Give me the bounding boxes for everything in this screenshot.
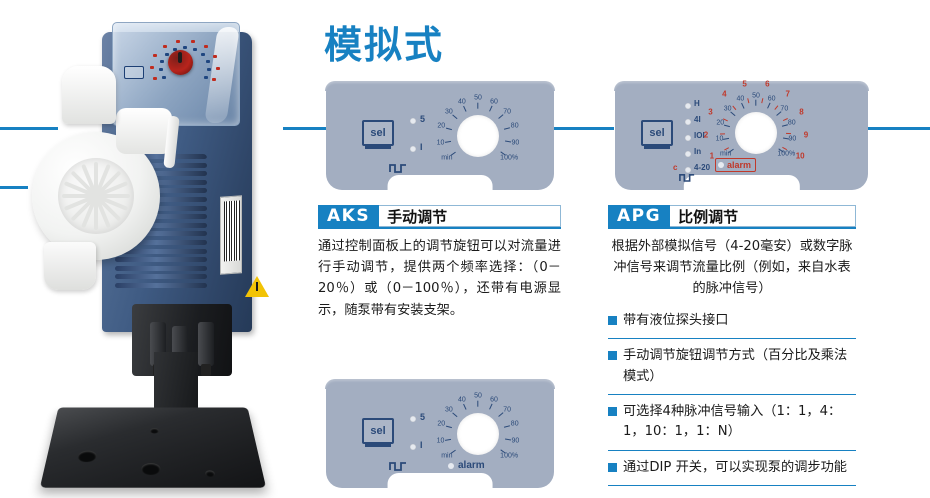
- dial-scale-label: 20: [716, 120, 724, 127]
- dial-scale-label: 30: [724, 106, 732, 113]
- dosing-pump-product-photo: [20, 4, 290, 496]
- feature-bullet-text: 带有液位探头接口: [623, 311, 729, 331]
- led-label-4to1: 4I: [694, 115, 701, 124]
- alarm-led: [718, 162, 724, 168]
- dial-scale-label: 40: [458, 98, 466, 105]
- connector-line-right-outer: [868, 127, 930, 130]
- dial-tick: [755, 100, 756, 106]
- dial-scale-label: 100%: [777, 151, 795, 158]
- aks-paragraph: 通过控制面板上的调节旋钮可以对流量进行手动调节，提供两个频率选择：（0－20％）…: [318, 236, 561, 322]
- connector-line-left-lower: [0, 186, 28, 189]
- led-indicator-5: [410, 416, 416, 422]
- alarm-indicator: alarm: [715, 158, 756, 172]
- dial-scale-label: 40: [736, 96, 744, 103]
- dial-scale-label: 100%: [500, 154, 518, 161]
- aks-badge-row: AKS 手动调节: [318, 205, 561, 227]
- panel-bottom-notch: [683, 175, 799, 191]
- pump-mounting-bracket: [40, 407, 266, 487]
- apg-description-column: APG 比例调节 根据外部模拟信号（4-20毫安）或数字脉冲信号来调节流量比例（…: [608, 205, 856, 486]
- dial-tick: [477, 103, 478, 109]
- aks-alarm-control-panel[interactable]: sel 5 I alarm min102030405060708090100%: [326, 380, 554, 488]
- feature-bullet-text: 可选择4种脉冲信号输入（1：1，4：1，10：1，1：N）: [623, 402, 856, 443]
- dial-scale-label-red: 6: [765, 80, 769, 89]
- aks-code-badge: AKS: [318, 205, 379, 227]
- dial-scale-label: min: [441, 452, 452, 459]
- dial-scale-label-red: 10: [796, 152, 805, 161]
- dial-scale-label-red: 4: [722, 90, 726, 99]
- led-label-1: I: [420, 142, 423, 152]
- dial-scale-label-red: 1: [710, 152, 714, 161]
- dial-tick: [504, 140, 510, 142]
- dial-scale-label: 90: [789, 136, 797, 143]
- alarm-label: alarm: [458, 460, 485, 471]
- dial-scale-label: 30: [445, 406, 453, 413]
- dial-scale-label: 90: [512, 437, 520, 444]
- led-label-5: 5: [420, 114, 425, 124]
- dial-scale-label: 60: [490, 396, 498, 403]
- panel-bottom-notch: [388, 473, 493, 489]
- led-label-in: In: [694, 147, 701, 156]
- bullet-square-icon: [608, 463, 617, 472]
- dial-scale-label: 60: [768, 96, 776, 103]
- dial-scale-label: 10: [437, 437, 445, 444]
- apg-feature-list: 带有液位探头接口手动调节旋钮调节方式（百分比及乘法模式）可选择4种脉冲信号输入（…: [608, 304, 856, 487]
- led-indicator-in: [685, 151, 691, 157]
- dial-scale-label: 50: [474, 95, 482, 102]
- dial-tick: [477, 401, 478, 407]
- feature-bullet-text: 手动调节旋钮调节方式（百分比及乘法模式）: [623, 346, 856, 387]
- dial-scale-label: 10: [716, 136, 724, 143]
- square-pulse-icon: [389, 460, 407, 471]
- feature-bullet: 通过DIP 开关，可以实现泵的调步功能: [608, 451, 856, 486]
- connector-line-left-panel: [283, 127, 327, 130]
- apg-heading: 比例调节: [670, 205, 856, 227]
- dial-scale-label: 30: [445, 108, 453, 115]
- connector-line-left-outer: [0, 127, 58, 130]
- aks-underline: [318, 227, 561, 229]
- alarm-label: alarm: [727, 160, 751, 170]
- connector-line-middle: [552, 127, 614, 130]
- dial-scale-label-red: 7: [785, 90, 789, 99]
- apg-code-badge: APG: [608, 205, 670, 227]
- barcode-icon: [224, 200, 240, 261]
- square-pulse-icon: [389, 162, 407, 173]
- dial-scale-label-red: 3: [708, 108, 712, 117]
- pump-top-cap: [62, 66, 116, 124]
- alarm-led: [448, 463, 454, 469]
- pump-head-neck: [116, 108, 172, 154]
- led-label-1: I: [420, 440, 423, 450]
- dial-scale-label-red: 8: [799, 108, 803, 117]
- adjust-dial-knob[interactable]: [457, 413, 499, 455]
- led-indicator-4to1: [685, 119, 691, 125]
- panel-surface: [326, 380, 554, 488]
- pulse-prefix-label: c: [673, 163, 677, 172]
- dial-scale-label: 80: [511, 123, 519, 130]
- dial-scale-label: 80: [788, 120, 796, 127]
- panel-surface: [326, 82, 554, 190]
- aks-control-panel[interactable]: sel 5 I min102030405060708090100%: [326, 82, 554, 190]
- aks-description-column: AKS 手动调节 通过控制面板上的调节旋钮可以对流量进行手动调节，提供两个频率选…: [318, 205, 561, 321]
- pump-serial-label: [220, 195, 242, 275]
- dial-scale-label: 70: [780, 106, 788, 113]
- feature-bullet: 手动调节旋钮调节方式（百分比及乘法模式）: [608, 339, 856, 395]
- square-pulse-icon: [679, 172, 695, 182]
- led-indicator-10to1: [685, 135, 691, 141]
- alarm-indicator: alarm: [448, 460, 485, 471]
- dial-scale-label: 40: [458, 396, 466, 403]
- led-indicator-1: [410, 444, 416, 450]
- dial-scale-label-red: 9: [804, 130, 808, 139]
- sel-button[interactable]: sel: [362, 120, 394, 146]
- dial-scale-label: min: [720, 151, 731, 158]
- dial-scale-label: min: [441, 154, 452, 161]
- led-indicator-1: [410, 146, 416, 152]
- pump-cable-connector-3: [198, 322, 214, 366]
- pump-bottom-cap: [44, 242, 96, 290]
- dial-scale-label: 50: [474, 393, 482, 400]
- adjust-dial-knob[interactable]: [457, 115, 499, 157]
- apg-paragraph: 根据外部模拟信号（4-20毫安）或数字脉冲信号来调节流量比例（例如，来自水表的脉…: [608, 236, 856, 300]
- feature-bullet: 可选择4种脉冲信号输入（1：1，4：1，10：1，1：N）: [608, 395, 856, 451]
- adjust-dial-knob[interactable]: [735, 112, 777, 154]
- aks-heading: 手动调节: [379, 205, 561, 227]
- dial-scale-label-red: 5: [742, 80, 746, 89]
- dial-scale-label: 50: [752, 93, 760, 100]
- led-indicator-5: [410, 118, 416, 124]
- sel-button[interactable]: sel: [362, 418, 394, 444]
- sel-button[interactable]: sel: [641, 120, 673, 146]
- feature-bullet-text: 通过DIP 开关，可以实现泵的调步功能: [623, 458, 847, 478]
- feature-bullet: 带有液位探头接口: [608, 304, 856, 339]
- dial-scale-label: 10: [437, 139, 445, 146]
- pump-adjust-knob[interactable]: [168, 50, 193, 75]
- led-label-4-20: 4-20: [694, 163, 710, 172]
- page-title: 模拟式: [324, 14, 444, 69]
- dial-scale-label: 60: [490, 98, 498, 105]
- dial-scale-label: 70: [503, 406, 511, 413]
- led-label-h: H: [694, 99, 700, 108]
- bullet-square-icon: [608, 316, 617, 325]
- apg-badge-row: APG 比例调节: [608, 205, 856, 227]
- dial-scale-label: 20: [437, 421, 445, 428]
- page-root: 模拟式 sel 5 I min102030405060708090100% se…: [0, 0, 930, 498]
- led-indicator-h: [685, 103, 691, 109]
- dial-tick: [504, 438, 510, 440]
- bullet-square-icon: [608, 407, 617, 416]
- dial-scale-label: 80: [511, 421, 519, 428]
- panel-bottom-notch: [388, 175, 493, 191]
- dial-scale-label: 90: [512, 139, 520, 146]
- dial-scale-label: 20: [437, 123, 445, 130]
- dial-scale-label: 100%: [500, 452, 518, 459]
- warning-triangle-icon: [245, 276, 269, 297]
- led-label-5: 5: [420, 412, 425, 422]
- apg-underline: [608, 227, 856, 229]
- dial-scale-label: 70: [503, 108, 511, 115]
- dial-scale-label-red: 2: [704, 130, 708, 139]
- apg-control-panel[interactable]: sel H 4I IOI In 4-20 c alarm min10203040…: [615, 82, 868, 190]
- bullet-square-icon: [608, 351, 617, 360]
